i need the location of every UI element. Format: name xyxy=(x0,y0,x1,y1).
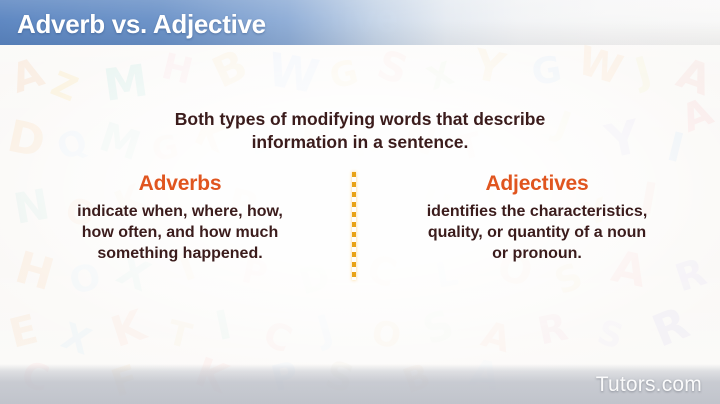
watermark-tutors-com: Tutors.com xyxy=(596,373,702,397)
adverbs-column: Adverbs indicate when, where, how, how o… xyxy=(26,172,334,264)
slide-canvas: AZMHBWGSXYGWJADQMGKZPRNTYJIANOKBUHLIYHOX… xyxy=(0,0,720,404)
adjectives-heading: Adjectives xyxy=(378,172,696,196)
intro-text: Both types of modifying words that descr… xyxy=(60,108,660,154)
adjectives-line-1: identifies the characteristics, xyxy=(378,202,696,223)
adjectives-line-2: quality, or quantity of a noun xyxy=(378,223,696,244)
adverbs-line-1: indicate when, where, how, xyxy=(26,202,334,223)
intro-line-1: Both types of modifying words that descr… xyxy=(60,108,660,131)
adverbs-description: indicate when, where, how, how often, an… xyxy=(26,202,334,264)
adverbs-heading: Adverbs xyxy=(26,172,334,196)
page-title: Adverb vs. Adjective xyxy=(17,9,266,40)
adjectives-description: identifies the characteristics, quality,… xyxy=(378,202,696,264)
intro-line-2: information in a sentence. xyxy=(60,131,660,154)
slide-content: Both types of modifying words that descr… xyxy=(0,0,720,404)
column-divider xyxy=(352,172,356,280)
adjectives-column: Adjectives identifies the characteristic… xyxy=(378,172,696,264)
adverbs-line-2: how often, and how much xyxy=(26,223,334,244)
adjectives-line-3: or pronoun. xyxy=(378,244,696,265)
adverbs-line-3: something happened. xyxy=(26,244,334,265)
